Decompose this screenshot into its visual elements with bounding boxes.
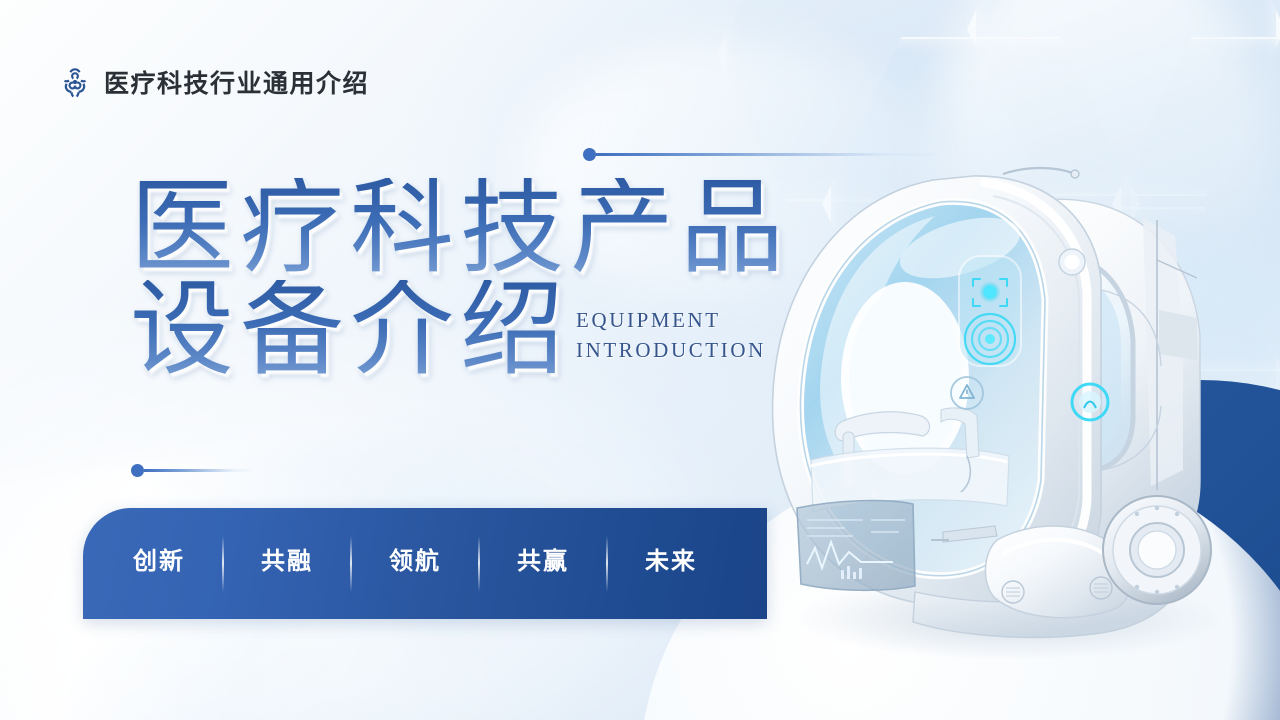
hero-title-block: 医疗科技产品 设备介绍 EQUIPMENT INTRODUCTION bbox=[130, 178, 790, 382]
subtitle-en-line1: EQUIPMENT bbox=[576, 305, 766, 335]
dot-line-lower bbox=[131, 464, 256, 477]
ribbon-divider bbox=[222, 536, 224, 592]
ribbon-item-1[interactable]: 创新 bbox=[113, 550, 205, 578]
accent-line bbox=[596, 153, 951, 156]
biohazard-icon bbox=[58, 65, 92, 99]
subtitle-en-line2: INTRODUCTION bbox=[576, 335, 766, 365]
ribbon-item-4[interactable]: 共赢 bbox=[497, 550, 589, 578]
keyword-ribbon: 创新 共融 领航 共赢 未来 bbox=[83, 508, 767, 619]
ribbon-item-5[interactable]: 未来 bbox=[625, 550, 717, 578]
slide-header: 医疗科技行业通用介绍 bbox=[58, 64, 369, 100]
ribbon-item-2[interactable]: 共融 bbox=[241, 550, 333, 578]
hero-title-line2: 设备介绍 bbox=[130, 280, 570, 382]
ribbon-divider bbox=[478, 536, 480, 592]
dot-marker bbox=[131, 464, 144, 477]
ribbon-divider bbox=[606, 536, 608, 592]
hero-subtitle-en: EQUIPMENT INTRODUCTION bbox=[576, 305, 766, 382]
dot-marker bbox=[583, 148, 596, 161]
ribbon-divider bbox=[350, 536, 352, 592]
header-title: 医疗科技行业通用介绍 bbox=[104, 64, 369, 100]
hero-title-line1: 医疗科技产品 bbox=[130, 178, 790, 280]
slide-canvas: 医疗科技行业通用介绍 医疗科技产品 设备介绍 EQUIPMENT INTRODU… bbox=[0, 0, 1280, 720]
ribbon-item-3[interactable]: 领航 bbox=[369, 550, 461, 578]
dot-line-top bbox=[583, 148, 951, 161]
accent-line bbox=[144, 469, 256, 472]
